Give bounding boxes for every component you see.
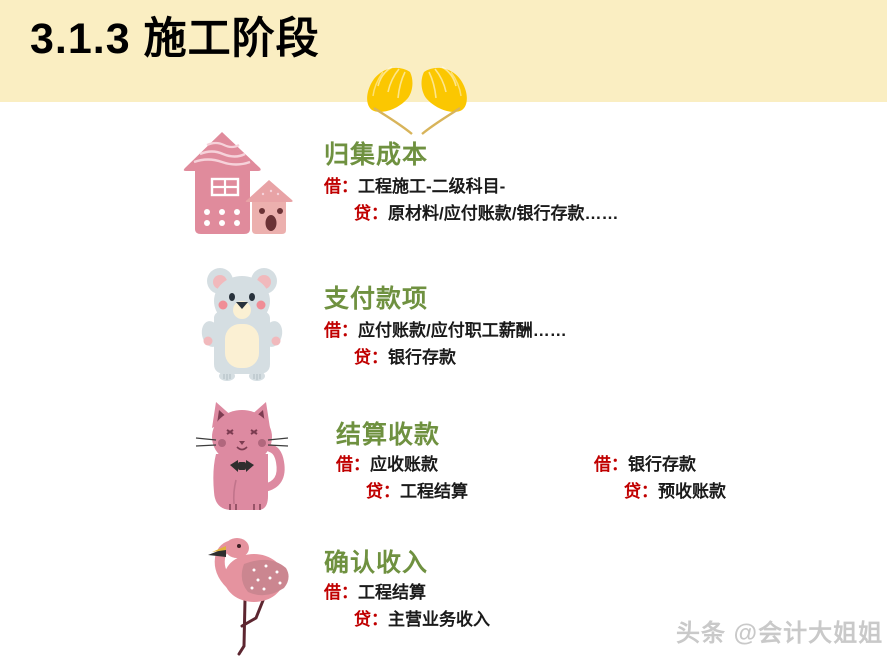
entry-account: 原材料/应付账款/银行存款…… bbox=[388, 204, 618, 223]
entry-column-left: 借：应收账款 贷：工程结算 bbox=[336, 451, 468, 505]
entry-tag: 借： bbox=[324, 583, 358, 602]
section-确认收入: 确认收入 借：工程结算 贷：主营业务收入 bbox=[324, 548, 428, 578]
houses-icon bbox=[168, 124, 318, 249]
journal-entry-debit: 借：工程结算 bbox=[324, 579, 490, 606]
entry-tag: 借： bbox=[336, 455, 370, 474]
section-heading: 支付款项 bbox=[324, 284, 428, 314]
entry-column: 借：应付账款/应付职工薪酬…… 贷：银行存款 bbox=[324, 317, 567, 371]
entry-account: 主营业务收入 bbox=[388, 610, 490, 629]
entry-tag: 借： bbox=[594, 455, 628, 474]
section-结算收款: 结算收款 借：应收账款 贷：工程结算 借：银行存款 贷：预收账款 bbox=[336, 420, 440, 450]
journal-entry-credit: 贷：预收账款 bbox=[624, 478, 726, 505]
entry-account: 预收账款 bbox=[658, 482, 726, 501]
entry-account: 应收账款 bbox=[370, 455, 438, 474]
entry-column: 借：工程施工-二级科目- 贷：原材料/应付账款/银行存款…… bbox=[324, 173, 618, 227]
entry-column-right: 借：银行存款 贷：预收账款 bbox=[594, 451, 726, 505]
flamingo-icon bbox=[192, 526, 302, 663]
entry-tag: 借： bbox=[324, 321, 358, 340]
section-heading: 确认收入 bbox=[324, 548, 428, 578]
entry-column: 借：工程结算 贷：主营业务收入 bbox=[324, 579, 490, 633]
bear-icon bbox=[186, 256, 298, 389]
entry-tag: 贷： bbox=[354, 348, 388, 367]
entry-account: 工程施工-二级科目- bbox=[358, 177, 505, 196]
entry-account: 工程结算 bbox=[358, 583, 426, 602]
journal-entry-debit: 借：工程施工-二级科目- bbox=[324, 173, 618, 200]
journal-entry-credit: 贷：银行存款 bbox=[354, 344, 567, 371]
journal-entry-debit: 借：应收账款 bbox=[336, 451, 468, 478]
journal-entry-debit: 借：应付账款/应付职工薪酬…… bbox=[324, 317, 567, 344]
entry-tag: 贷： bbox=[354, 204, 388, 223]
section-heading: 结算收款 bbox=[336, 420, 440, 450]
page-title: 3.1.3 施工阶段 bbox=[30, 10, 320, 68]
entry-tag: 贷： bbox=[624, 482, 658, 501]
cat-icon bbox=[186, 392, 298, 529]
entry-tag: 贷： bbox=[366, 482, 400, 501]
section-支付款项: 支付款项 借：应付账款/应付职工薪酬…… 贷：银行存款 bbox=[324, 284, 428, 314]
journal-entry-credit: 贷：主营业务收入 bbox=[354, 606, 490, 633]
ginkgo-leaves-icon bbox=[352, 58, 482, 136]
journal-entry-debit: 借：银行存款 bbox=[594, 451, 726, 478]
section-heading: 归集成本 bbox=[324, 140, 428, 170]
entry-tag: 贷： bbox=[354, 610, 388, 629]
journal-entry-credit: 贷：原材料/应付账款/银行存款…… bbox=[354, 200, 618, 227]
entry-account: 工程结算 bbox=[400, 482, 468, 501]
journal-entry-credit: 贷：工程结算 bbox=[366, 478, 468, 505]
entry-tag: 借： bbox=[324, 177, 358, 196]
slide-canvas: 3.1.3 施工阶段 bbox=[0, 0, 887, 663]
entry-account: 银行存款 bbox=[388, 348, 456, 367]
section-归集成本: 归集成本 借：工程施工-二级科目- 贷：原材料/应付账款/银行存款…… bbox=[324, 140, 428, 170]
entry-account: 应付账款/应付职工薪酬…… bbox=[358, 321, 567, 340]
entry-account: 银行存款 bbox=[628, 455, 696, 474]
watermark: 头条 @会计大姐姐 bbox=[676, 613, 883, 648]
